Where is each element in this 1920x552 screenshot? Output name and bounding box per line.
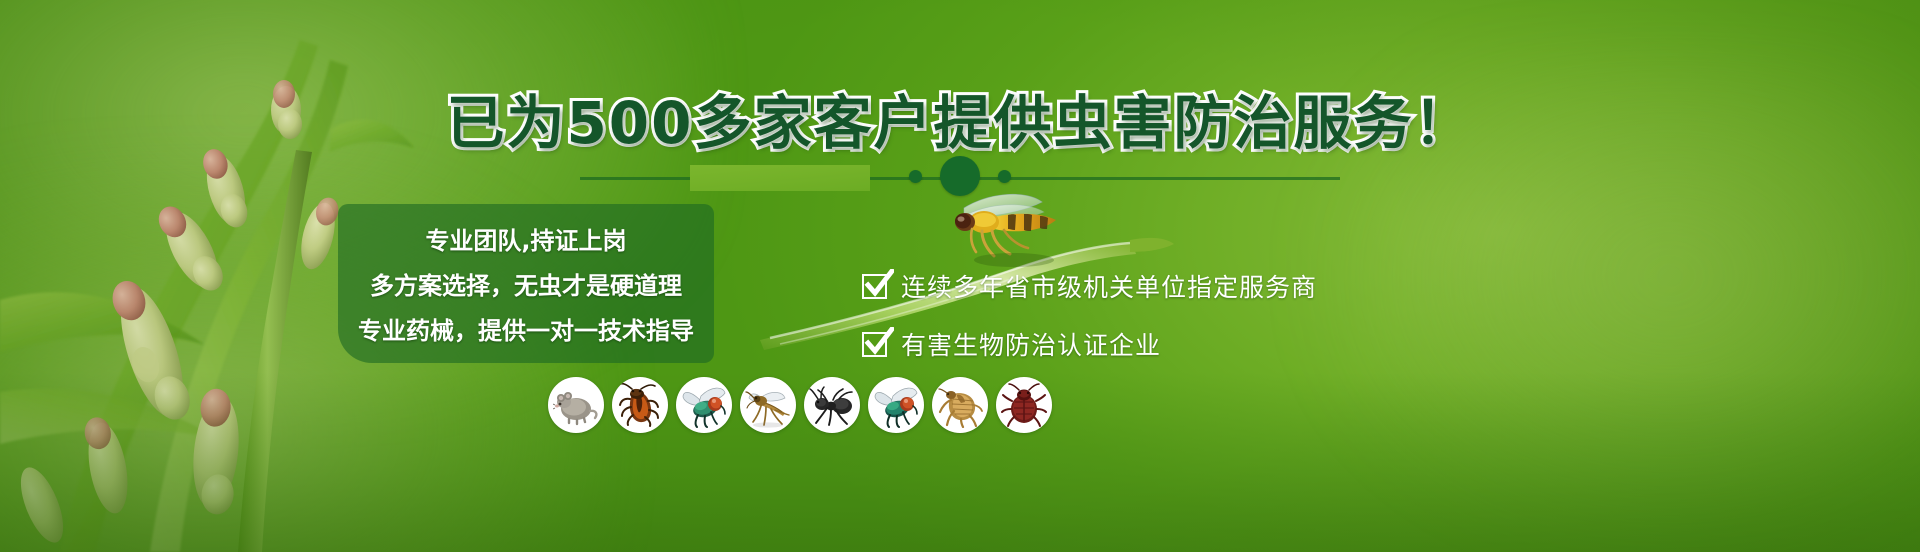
cockroach-icon[interactable] (612, 377, 668, 433)
flea-icon[interactable] (932, 377, 988, 433)
dot-small-right (998, 170, 1011, 183)
dot-small-left (909, 170, 922, 183)
selling-point-line-1: 专业团队,持证上岗 (425, 221, 626, 256)
selling-points-panel: 专业团队,持证上岗 多方案选择，无虫才是硬道理 专业药械，提供一对一技术指导 (338, 204, 714, 363)
credentials-checklist: 连续多年省市级机关单位指定服务商 有害生物防治认证企业 (862, 268, 1317, 362)
bedbug-icon[interactable] (996, 377, 1052, 433)
pest-control-hero-banner: 已为500多家客户提供虫害防治服务！ 专业团队,持证上岗 多方案选择，无虫才是硬… (0, 0, 1920, 552)
housefly-icon[interactable] (676, 377, 732, 433)
greenbottle-fly-icon[interactable] (868, 377, 924, 433)
pest-types-icon-row (548, 375, 1068, 435)
selling-point-line-3: 专业药械，提供一对一技术指导 (358, 311, 694, 346)
rodent-icon[interactable] (548, 377, 604, 433)
ant-icon[interactable] (804, 377, 860, 433)
decorative-dots (0, 156, 1920, 196)
dot-large-center (940, 156, 980, 196)
checklist-item: 有害生物防治认证企业 (862, 326, 1317, 362)
checklist-item-label: 连续多年省市级机关单位指定服务商 (901, 268, 1317, 304)
checkbox-check-icon (862, 332, 887, 357)
checkbox-check-icon (862, 274, 887, 299)
checklist-item: 连续多年省市级机关单位指定服务商 (862, 268, 1317, 304)
mosquito-icon[interactable] (740, 377, 796, 433)
checklist-item-label: 有害生物防治认证企业 (901, 326, 1161, 362)
selling-point-line-2: 多方案选择，无虫才是硬道理 (370, 266, 682, 301)
